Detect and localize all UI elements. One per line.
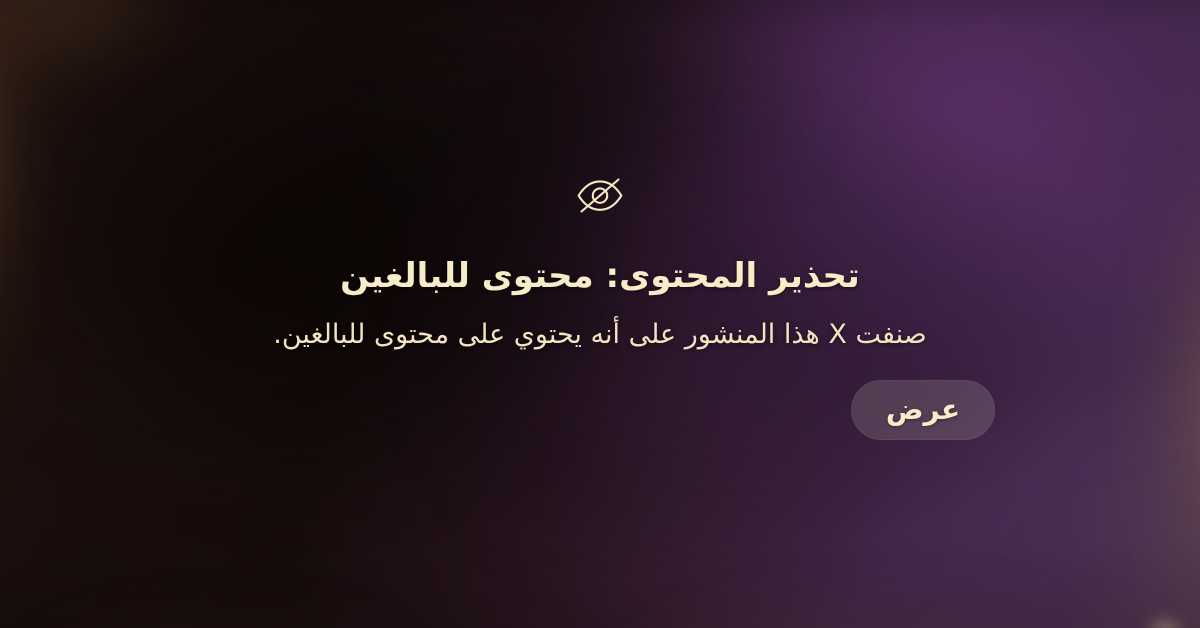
content-warning-overlay: تحذير المحتوى: محتوى للبالغين صنفت X هذا…	[0, 0, 1200, 628]
warning-content: تحذير المحتوى: محتوى للبالغين صنفت X هذا…	[0, 0, 1200, 628]
action-row: عرض	[205, 380, 995, 440]
view-button[interactable]: عرض	[851, 380, 995, 440]
warning-description: صنفت X هذا المنشور على أنه يحتوي على محت…	[273, 317, 926, 352]
page-title: تحذير المحتوى: محتوى للبالغين	[340, 256, 860, 297]
eye-off-icon	[571, 172, 629, 218]
